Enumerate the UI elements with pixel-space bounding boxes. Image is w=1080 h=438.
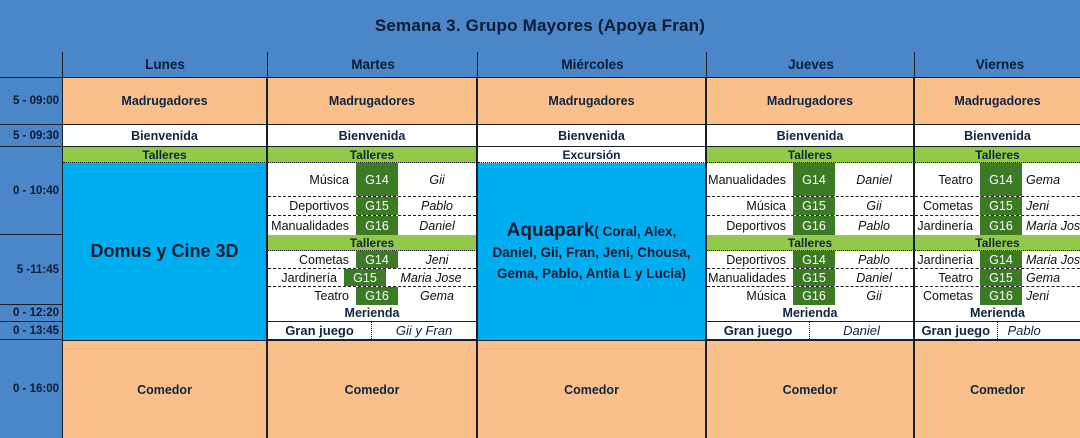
- workshop-monitor: Pablo: [835, 251, 913, 268]
- workshop-group-badge: G16: [356, 287, 398, 305]
- workshop-name: Teatro: [915, 269, 980, 286]
- workshop-name: Deportivos: [707, 216, 793, 235]
- workshop-group-badge: G14: [793, 163, 835, 196]
- workshop-monitor: Gema: [1022, 163, 1080, 196]
- workshop-monitor: Daniel: [398, 216, 476, 235]
- workshop-name: Jardinería: [915, 216, 980, 235]
- gran-juego-monitor: Gii y Fran: [372, 322, 476, 339]
- workshop-monitor: Daniel: [835, 163, 913, 196]
- cell-jueves-gran-juego[interactable]: Gran juego Daniel: [707, 322, 914, 340]
- time-cell-1: 5 - 09:00: [0, 78, 62, 125]
- workshop-monitor: Gema: [1022, 269, 1080, 286]
- workshop-group-badge: G15: [793, 269, 835, 286]
- excursion-title: Aquapark: [507, 220, 595, 241]
- workshop-monitor: Gema: [398, 287, 476, 305]
- day-header-viernes[interactable]: Viernes: [915, 52, 1080, 78]
- workshop-name: Jardinería: [915, 251, 980, 268]
- workshop-row[interactable]: Manualidades G15 Daniel: [707, 269, 913, 287]
- cell-lunes-madrugadores[interactable]: Madrugadores: [63, 78, 267, 125]
- cell-lunes-comedor[interactable]: Comedor: [63, 340, 267, 438]
- day-header-martes[interactable]: Martes: [268, 52, 478, 78]
- workshop-row[interactable]: Jardinería G16 Maria Jose: [915, 216, 1080, 235]
- workshop-group-badge: G14: [356, 251, 398, 268]
- workshop-row[interactable]: Teatro G15 Gema: [915, 269, 1080, 287]
- cell-martes-madrugadores[interactable]: Madrugadores: [268, 78, 477, 125]
- workshops-martes-block-2: Cometas G14 Jeni Jardinería G15 Maria Jo…: [268, 251, 477, 305]
- cell-martes-comedor[interactable]: Comedor: [268, 340, 477, 438]
- gran-juego-label: Gran juego: [915, 322, 998, 339]
- cell-viernes-bienvenida[interactable]: Bienvenida: [915, 125, 1080, 147]
- time-cell-5: 0 - 12:20: [0, 305, 62, 322]
- workshop-monitor: Gii: [835, 197, 913, 215]
- workshop-group-badge: G16: [980, 216, 1022, 235]
- workshop-row[interactable]: Cometas G15 Jeni: [915, 197, 1080, 216]
- workshop-group-badge: G14: [980, 251, 1022, 268]
- workshop-name: Música: [707, 197, 793, 215]
- workshop-monitor: Maria Jose: [1022, 251, 1080, 268]
- spreadsheet-schedule: Semana 3. Grupo Mayores (Apoya Fran) Lun…: [0, 0, 1080, 438]
- schedule-grid: Lunes Martes Miércoles Jueves Viernes 5 …: [0, 52, 1080, 438]
- cell-lunes-bienvenida[interactable]: Bienvenida: [63, 125, 267, 147]
- workshop-name: Música: [268, 163, 356, 196]
- day-header-jueves[interactable]: Jueves: [707, 52, 915, 78]
- workshop-monitor: Gii: [398, 163, 476, 196]
- workshop-name: Jardinería: [268, 269, 344, 286]
- cell-miercoles-comedor[interactable]: Comedor: [478, 340, 706, 438]
- workshop-monitor: Jeni: [1022, 197, 1080, 215]
- workshop-monitor: Maria Jose: [386, 269, 476, 286]
- workshop-name: Teatro: [915, 163, 980, 196]
- workshop-group-badge: G15: [356, 197, 398, 215]
- excursion-detail-line-3: Gema, Pablo, Antia L y Lucia): [497, 266, 686, 281]
- workshop-row[interactable]: Música G14 Gii: [268, 163, 476, 197]
- workshop-row[interactable]: Manualidades G14 Daniel: [707, 163, 913, 197]
- cell-martes-talleres-header-1[interactable]: Talleres: [268, 147, 477, 163]
- day-header-lunes[interactable]: Lunes: [62, 52, 268, 78]
- workshop-monitor: Pablo: [835, 216, 913, 235]
- workshop-monitor: Jeni: [398, 251, 476, 268]
- workshop-row[interactable]: Deportivos G14 Pablo: [707, 251, 913, 269]
- workshops-martes-block-1: Música G14 Gii Deportivos G15 Pablo Manu…: [268, 163, 477, 235]
- workshop-row[interactable]: Manualidades G16 Daniel: [268, 216, 476, 235]
- cell-martes-gran-juego[interactable]: Gran juego Gii y Fran: [268, 322, 477, 340]
- cell-viernes-talleres-header-1[interactable]: Talleres: [915, 147, 1080, 163]
- cell-jueves-talleres-header-1[interactable]: Talleres: [707, 147, 914, 163]
- cell-miercoles-aquapark[interactable]: Aquapark( Coral, Alex, Daniel, Gii, Fran…: [478, 163, 706, 340]
- workshops-viernes-block-1: Teatro G14 Gema Cometas G15 Jeni Jardine…: [915, 163, 1080, 235]
- workshop-monitor: Daniel: [835, 269, 913, 286]
- cell-lunes-talleres-header-1[interactable]: Talleres: [63, 147, 267, 163]
- workshop-row[interactable]: Deportivos G15 Pablo: [268, 197, 476, 216]
- workshop-name: Música: [707, 287, 793, 305]
- cell-jueves-merienda[interactable]: Merienda: [707, 305, 914, 322]
- workshop-group-badge: G14: [793, 251, 835, 268]
- workshop-name: Cometas: [915, 197, 980, 215]
- workshop-name: Manualidades: [268, 216, 356, 235]
- title-band: Semana 3. Grupo Mayores (Apoya Fran): [0, 0, 1080, 52]
- time-cell-2: 5 - 09:30: [0, 125, 62, 147]
- workshop-name: Manualidades: [707, 163, 793, 196]
- page-title: Semana 3. Grupo Mayores (Apoya Fran): [375, 16, 705, 36]
- cell-jueves-madrugadores[interactable]: Madrugadores: [707, 78, 914, 125]
- excursion-detail-line-1: ( Coral, Alex,: [594, 224, 676, 239]
- cell-miercoles-excursion-header[interactable]: Excursión: [478, 147, 706, 163]
- workshop-group-badge: G16: [793, 216, 835, 235]
- workshop-group-badge: G15: [980, 269, 1022, 286]
- cell-martes-bienvenida[interactable]: Bienvenida: [268, 125, 477, 147]
- time-cell-3: 0 - 10:40: [0, 147, 62, 235]
- workshop-row[interactable]: Jardinería G14 Maria Jose: [915, 251, 1080, 269]
- cell-martes-merienda[interactable]: Merienda: [268, 305, 477, 322]
- workshop-monitor: Maria Jose: [1022, 216, 1080, 235]
- time-cell-4: 5 -11:45: [0, 235, 62, 305]
- workshop-name: Cometas: [268, 251, 356, 268]
- workshop-monitor: Gii: [835, 287, 913, 305]
- day-header-miercoles[interactable]: Miércoles: [478, 52, 707, 78]
- cell-viernes-merienda[interactable]: Merienda: [915, 305, 1080, 322]
- cell-viernes-gran-juego[interactable]: Gran juego Pablo: [915, 322, 1080, 340]
- cell-viernes-talleres-header-2[interactable]: Talleres: [915, 235, 1080, 251]
- workshops-jueves-block-2: Deportivos G14 Pablo Manualidades G15 Da…: [707, 251, 914, 305]
- workshop-name: Teatro: [268, 287, 356, 305]
- workshops-jueves-block-1: Manualidades G14 Daniel Música G15 Gii D…: [707, 163, 914, 235]
- workshop-monitor: Pablo: [398, 197, 476, 215]
- workshop-name: Manualidades: [707, 269, 793, 286]
- time-cell-7: 0 - 16:00: [0, 340, 62, 438]
- gran-juego-label: Gran juego: [707, 322, 810, 339]
- workshop-row[interactable]: Teatro G14 Gema: [915, 163, 1080, 197]
- cell-jueves-bienvenida[interactable]: Bienvenida: [707, 125, 914, 147]
- workshop-row[interactable]: Jardinería G15 Maria Jose: [268, 269, 476, 287]
- workshop-group-badge: G15: [344, 269, 386, 286]
- workshop-row[interactable]: Cometas G16 Jeni: [915, 287, 1080, 305]
- cell-lunes-domus-cine-3d[interactable]: Domus y Cine 3D: [63, 163, 267, 340]
- workshops-viernes-block-2: Jardinería G14 Maria Jose Teatro G15 Gem…: [915, 251, 1080, 305]
- workshop-row[interactable]: Deportivos G16 Pablo: [707, 216, 913, 235]
- workshop-name: Deportivos: [268, 197, 356, 215]
- workshop-group-badge: G14: [980, 163, 1022, 196]
- workshop-group-badge: G14: [356, 163, 398, 196]
- cell-viernes-comedor[interactable]: Comedor: [915, 340, 1080, 438]
- cell-jueves-talleres-header-2[interactable]: Talleres: [707, 235, 914, 251]
- cell-viernes-madrugadores[interactable]: Madrugadores: [915, 78, 1080, 125]
- workshop-group-badge: G15: [793, 197, 835, 215]
- gran-juego-monitor: Pablo: [998, 322, 1080, 339]
- workshop-group-badge: G16: [980, 287, 1022, 305]
- workshop-name: Cometas: [915, 287, 980, 305]
- time-cell-6: 0 - 13:45: [0, 322, 62, 340]
- workshop-name: Deportivos: [707, 251, 793, 268]
- gran-juego-monitor: Daniel: [810, 322, 913, 339]
- cell-jueves-comedor[interactable]: Comedor: [707, 340, 914, 438]
- cell-miercoles-madrugadores[interactable]: Madrugadores: [478, 78, 706, 125]
- gran-juego-label: Gran juego: [268, 322, 372, 339]
- workshop-group-badge: G15: [980, 197, 1022, 215]
- workshop-row[interactable]: Teatro G16 Gema: [268, 287, 476, 305]
- workshop-row[interactable]: Música G15 Gii: [707, 197, 913, 216]
- workshop-row[interactable]: Cometas G14 Jeni: [268, 251, 476, 269]
- workshop-group-badge: G16: [793, 287, 835, 305]
- workshop-monitor: Jeni: [1022, 287, 1080, 305]
- workshop-group-badge: G16: [356, 216, 398, 235]
- workshop-row[interactable]: Música G16 Gii: [707, 287, 913, 305]
- header-corner-cell: [0, 52, 62, 78]
- excursion-detail-line-2: Daniel, Gii, Fran, Jeni, Chousa,: [492, 245, 690, 260]
- cell-miercoles-bienvenida[interactable]: Bienvenida: [478, 125, 706, 147]
- cell-martes-talleres-header-2[interactable]: Talleres: [268, 235, 477, 251]
